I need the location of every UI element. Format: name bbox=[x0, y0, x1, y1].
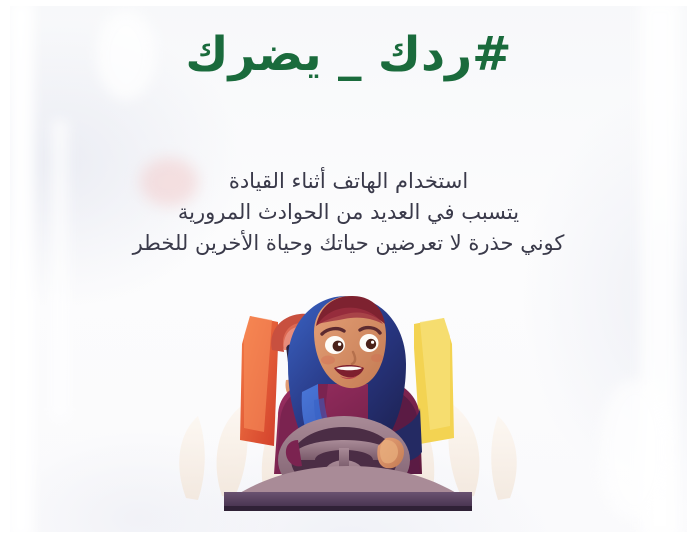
message-line-3: كوني حذرة لا تعرضين حياتك وحياة الأخرين … bbox=[0, 228, 697, 259]
edge-border-top bbox=[0, 0, 697, 6]
campaign-hashtag-headline: #ردك _ يضرك bbox=[0, 26, 697, 85]
dashboard bbox=[224, 466, 472, 511]
awareness-message: استخدام الهاتف أثناء القيادة يتسبب في ال… bbox=[0, 166, 697, 259]
message-line-1: استخدام الهاتف أثناء القيادة bbox=[0, 166, 697, 197]
message-line-2: يتسبب في العديد من الحوادث المرورية bbox=[0, 197, 697, 228]
edge-border-bottom bbox=[0, 532, 697, 540]
paper-streak-left-inner bbox=[52, 120, 68, 420]
driver-illustration bbox=[168, 288, 528, 514]
poster-canvas: #ردك _ يضرك استخدام الهاتف أثناء القيادة… bbox=[0, 0, 697, 540]
paper-highlight-bottom-right bbox=[600, 380, 670, 520]
